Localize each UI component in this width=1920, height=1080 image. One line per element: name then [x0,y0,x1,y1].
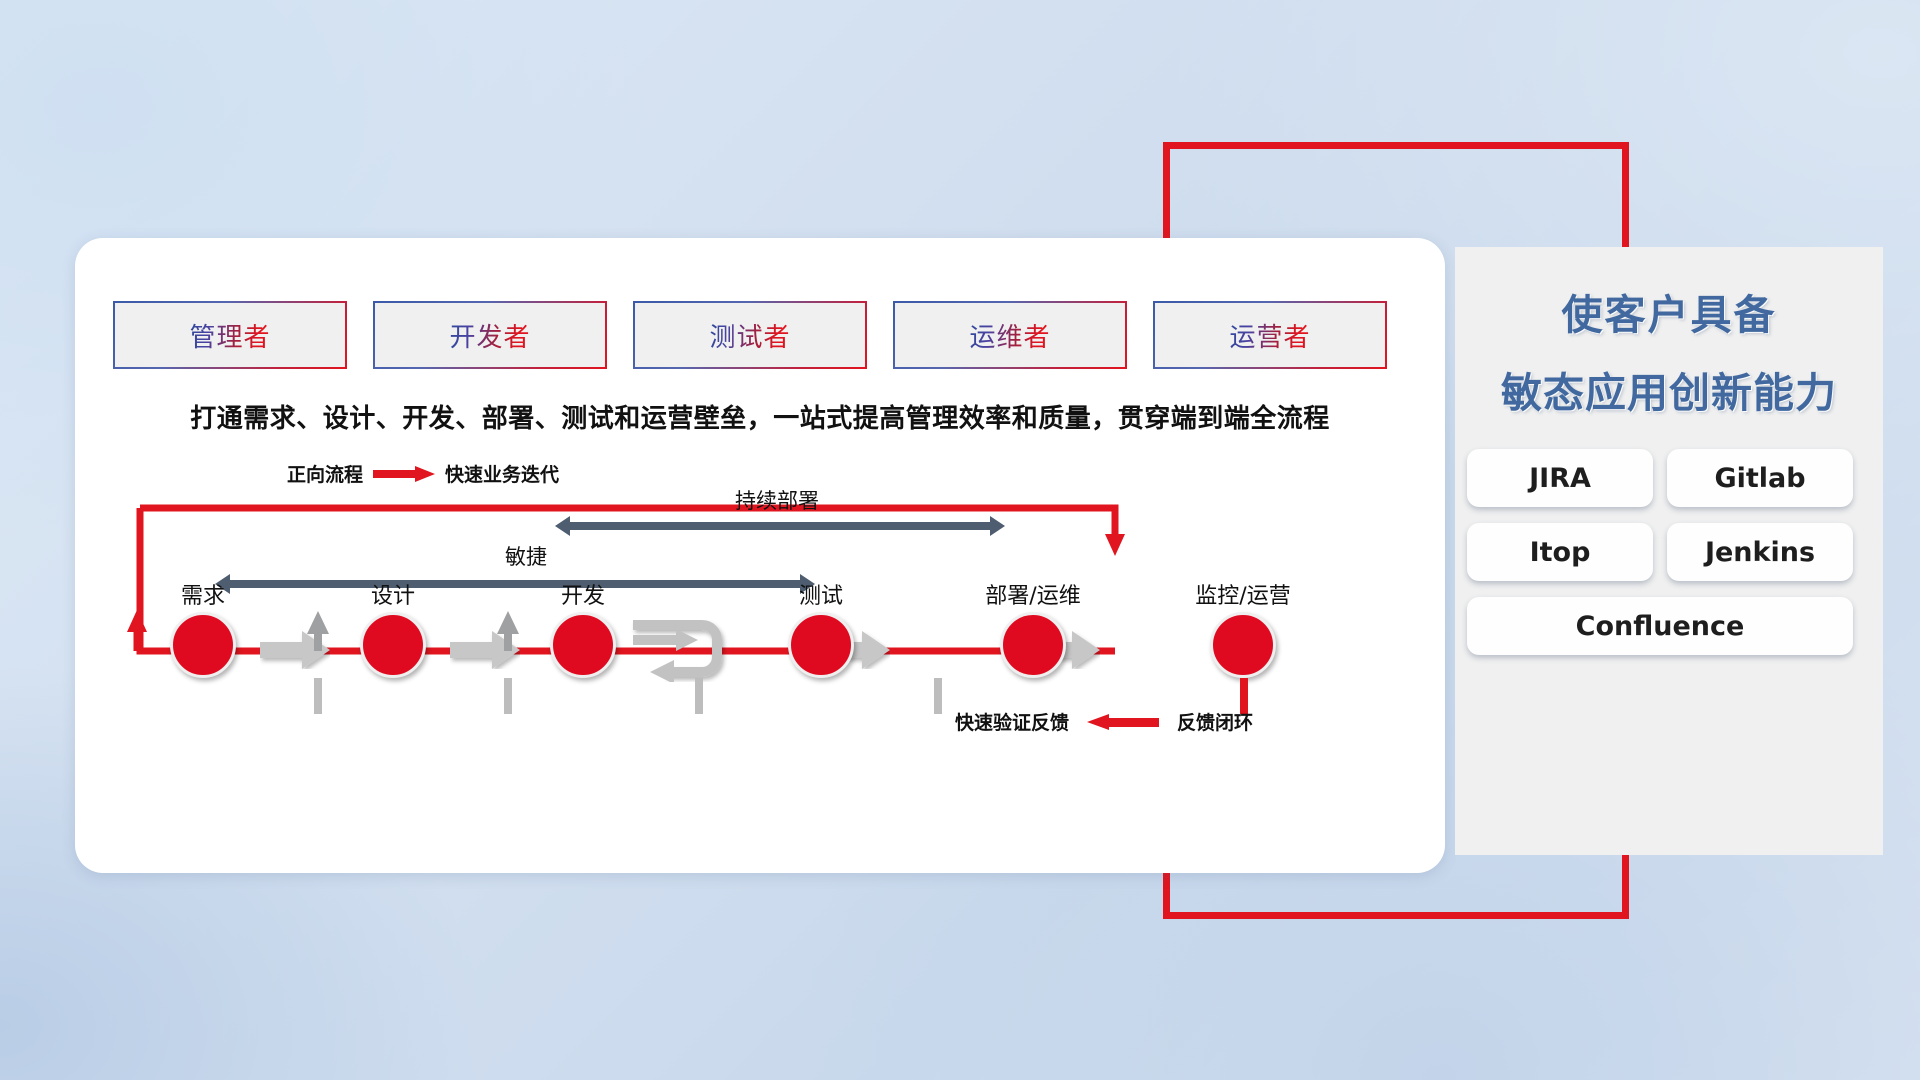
bracket-top-horizontal [1163,142,1629,149]
stage-dot-1[interactable] [360,612,426,678]
stage-dot-2[interactable] [550,612,616,678]
stage-node-5[interactable]: 监控/运营 [1210,612,1276,678]
stage-dot-3[interactable] [788,612,854,678]
feedback-up-arrows [75,238,1445,873]
stage-dot-0[interactable] [170,612,236,678]
feedback-target: 快速验证反馈 [955,708,1069,735]
stage-label-4: 部署/运维 [985,578,1080,610]
stage-label-1: 设计 [371,578,415,610]
tool-chip-gitlab[interactable]: Gitlab [1667,449,1853,507]
stage-node-1[interactable]: 设计 [360,612,426,678]
stage-node-0[interactable]: 需求 [170,612,236,678]
tool-chip-itop[interactable]: Itop [1467,523,1653,581]
capability-panel: 使客户具备 敏态应用创新能力 JIRA Gitlab Itop Jenkins … [1455,247,1883,855]
panel-heading-line2: 敏态应用创新能力 [1455,359,1883,419]
tools-grid: JIRA Gitlab Itop Jenkins Confluence [1467,449,1871,655]
slide-canvas: 管理者 开发者 测试者 运维者 运营者 打通需求、设计、开发、部署、测试和运营壁… [0,0,1920,1080]
delivery-pipeline: 需求 设计 开发 测试 部署/运维 监控/运营 [75,238,1445,873]
stage-dot-5[interactable] [1210,612,1276,678]
stage-label-3: 测试 [799,578,843,610]
stage-label-0: 需求 [181,578,225,610]
stage-label-5: 监控/运营 [1195,578,1290,610]
stage-dot-4[interactable] [1000,612,1066,678]
panel-heading-line1: 使客户具备 [1455,281,1883,341]
arrow-left-icon [1087,714,1159,730]
stage-node-2[interactable]: 开发 [550,612,616,678]
tool-chip-confluence[interactable]: Confluence [1467,597,1853,655]
stage-node-4[interactable]: 部署/运维 [1000,612,1066,678]
stage-node-3[interactable]: 测试 [788,612,854,678]
stage-label-2: 开发 [561,578,605,610]
bracket-left-vertical [1163,142,1170,244]
tool-chip-jira[interactable]: JIRA [1467,449,1653,507]
tool-chip-jenkins[interactable]: Jenkins [1667,523,1853,581]
main-content-card: 管理者 开发者 测试者 运维者 运营者 打通需求、设计、开发、部署、测试和运营壁… [75,238,1445,873]
feedback-loop-legend: 快速验证反馈 反馈闭环 [955,708,1253,735]
feedback-source: 反馈闭环 [1177,708,1253,735]
bracket-bottom-horizontal [1163,912,1629,919]
